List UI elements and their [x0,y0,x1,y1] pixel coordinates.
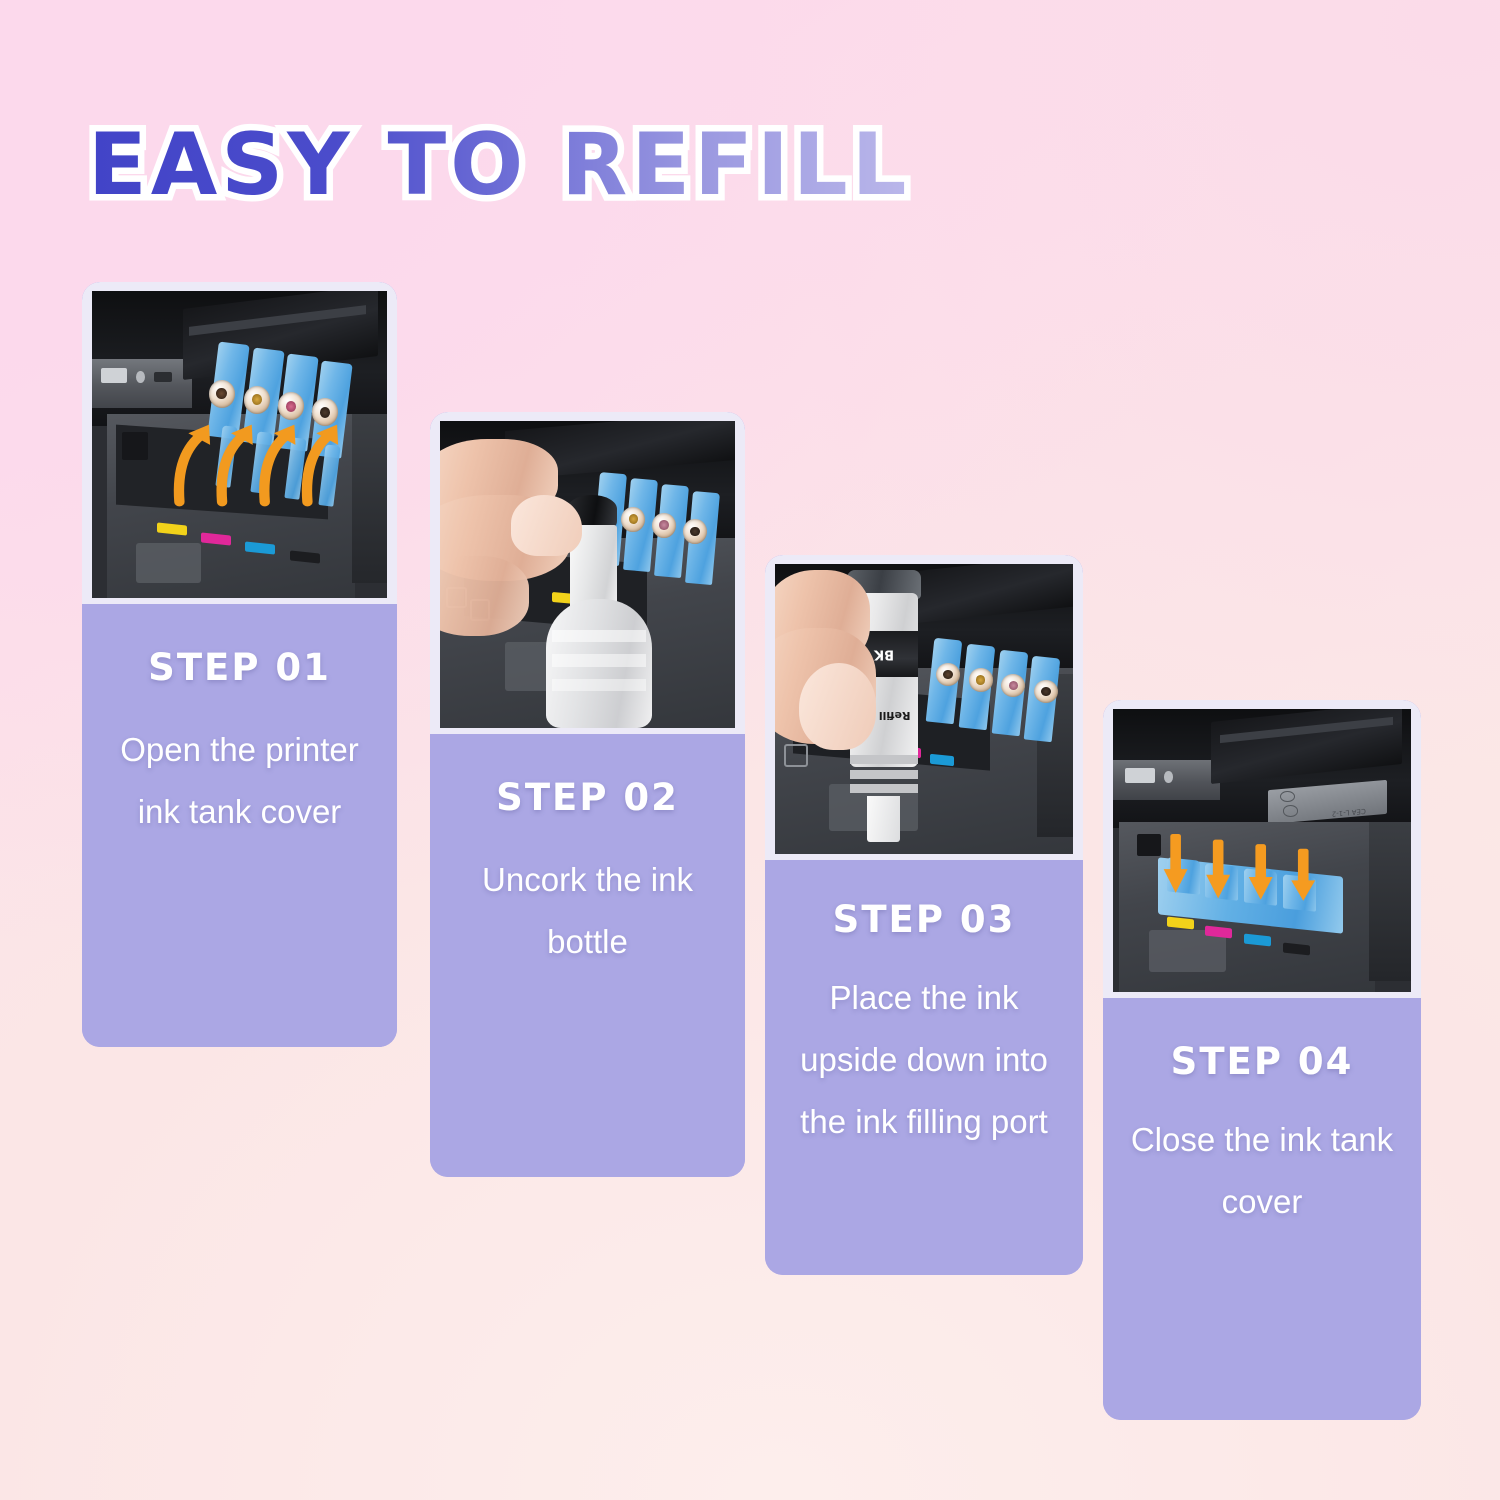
step-3-body: STEP 03 Place the ink upside down into t… [765,860,1083,1275]
step-card-1: STEP 01 Open the printer ink tank cover [82,282,397,1047]
step-2-photo-frame [430,412,745,734]
ink-bottle-bk-label: BK [874,646,894,661]
step-3-label: STEP 03 [779,898,1069,941]
step-2-body: STEP 02 Uncork the ink bottle [430,734,745,1177]
step-2-label: STEP 02 [448,776,727,819]
step-4-body: STEP 04 Close the ink tank cover [1103,998,1421,1420]
printer-open-ink-tank-cover-photo [92,291,387,598]
arrow-down-icon [1161,834,1334,902]
step-4-label: STEP 04 [1117,1040,1407,1083]
uncork-ink-bottle-photo [440,421,735,728]
ink-port [209,380,236,408]
embossed-plate-text: CEA L-1-2 [1316,785,1382,819]
step-3-description: Place the ink upside down into the ink f… [779,967,1069,1153]
step-3-photo-frame: BK Refill ink [765,555,1083,860]
step-1-body: STEP 01 Open the printer ink tank cover [82,604,397,1047]
page-title-fill: EASY TO REFILL [88,110,910,220]
step-1-photo-frame [82,282,397,604]
step-1-label: STEP 01 [100,646,379,689]
place-ink-bottle-into-port-photo: BK Refill ink [775,564,1073,854]
close-ink-tank-cover-photo: CEA L-1-2 [1113,709,1411,992]
step-4-photo-frame: CEA L-1-2 [1103,700,1421,998]
step-2-description: Uncork the ink bottle [448,849,727,973]
step-1-description: Open the printer ink tank cover [100,719,379,843]
step-card-4: CEA L-1-2 [1103,700,1421,1420]
step-card-2: STEP 02 Uncork the ink bottle [430,412,745,1177]
page-title: EASY TO REFILL EASY TO REFILL [88,110,988,220]
arrow-up-icon [166,408,349,512]
step-card-3: BK Refill ink STEP 03 Place the ink upsi… [765,555,1083,1275]
step-4-description: Close the ink tank cover [1117,1109,1407,1233]
printer-button-icon [784,744,808,767]
